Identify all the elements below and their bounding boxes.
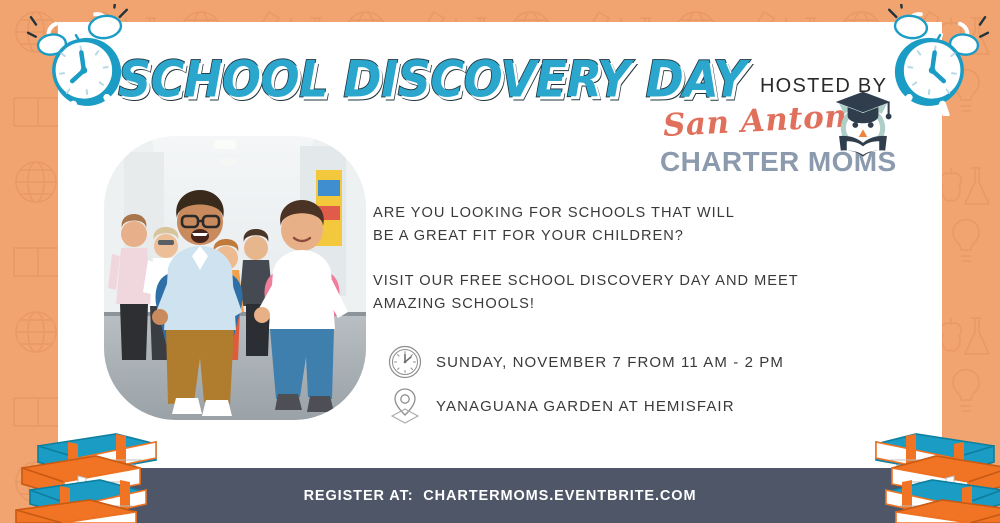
body-line-3: VISIT OUR FREE SCHOOL DISCOVERY DAY AND … (373, 273, 799, 289)
body-line-4: AMAZING SCHOOLS! (373, 296, 535, 312)
book-stack-icon (838, 432, 1000, 523)
event-details: SUNDAY, NOVEMBER 7 FROM 11 AM - 2 PM YAN… (388, 340, 784, 428)
book-stack-icon (4, 432, 194, 523)
detail-location-text: YANAGUANA GARDEN AT HEMISFAIR (436, 398, 735, 415)
body-copy: ARE YOU LOOKING FOR SCHOOLS THAT WILL BE… (373, 202, 833, 316)
detail-datetime-text: SUNDAY, NOVEMBER 7 FROM 11 AM - 2 PM (436, 354, 784, 371)
detail-row-datetime: SUNDAY, NOVEMBER 7 FROM 11 AM - 2 PM (388, 340, 784, 384)
alarm-clock-icon (22, 4, 150, 116)
hero-photo-bottom-section (104, 282, 366, 420)
alarm-clock-icon (866, 4, 994, 116)
detail-row-location: YANAGUANA GARDEN AT HEMISFAIR (388, 384, 784, 428)
flyer-canvas: SCHOOL DISCOVERY DAY HOSTED BY San Anton… (0, 0, 1000, 523)
body-paragraph-2: VISIT OUR FREE SCHOOL DISCOVERY DAY AND … (373, 270, 833, 316)
map-pin-icon (388, 386, 432, 426)
charter-moms-logo[interactable]: San Antonio CHARTER MOMS (660, 112, 908, 184)
page-title: SCHOOL DISCOVERY DAY (118, 54, 746, 104)
hero-photo (104, 136, 366, 420)
body-paragraph-1: ARE YOU LOOKING FOR SCHOOLS THAT WILL BE… (373, 202, 833, 248)
hero-photo-top-section (104, 136, 366, 282)
clock-icon (388, 342, 432, 382)
headline-row: SCHOOL DISCOVERY DAY HOSTED BY (118, 58, 887, 104)
body-line-1: ARE YOU LOOKING FOR SCHOOLS THAT WILL (373, 205, 735, 221)
register-link[interactable]: REGISTER AT: CHARTERMOMS.EVENTBRITE.COM (304, 488, 697, 504)
body-line-2: BE A GREAT FIT FOR YOUR CHILDREN? (373, 228, 684, 244)
